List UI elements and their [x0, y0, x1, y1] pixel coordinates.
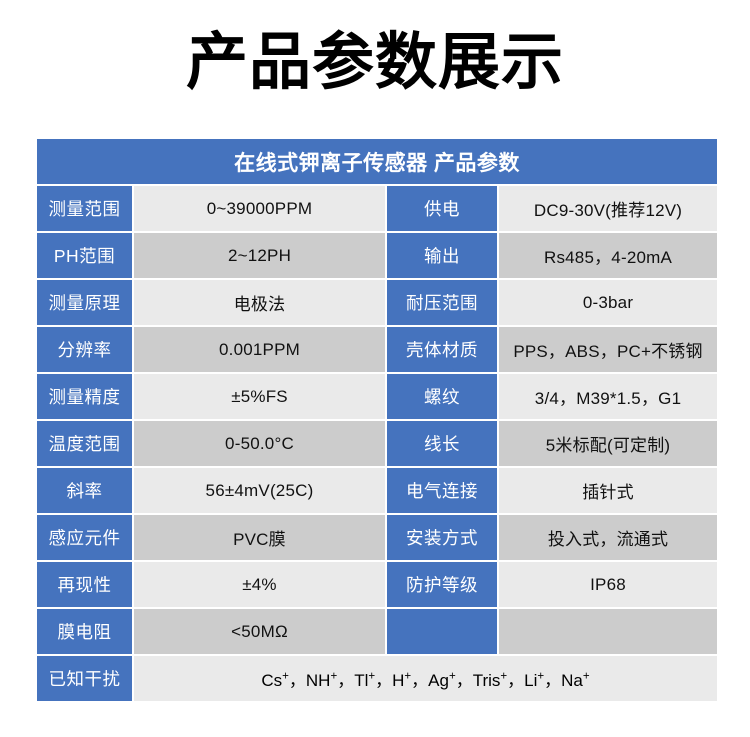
table-row: 测量原理电极法耐压范围0-3bar: [37, 280, 717, 325]
spec-value-left: 2~12PH: [134, 233, 385, 278]
ion-charge-superscript: +: [537, 670, 544, 682]
table-row: 斜率56±4mV(25C)电气连接插针式: [37, 468, 717, 513]
spec-value-left: 电极法: [134, 280, 385, 325]
spec-table-body: 在线式钾离子传感器 产品参数 测量范围0~39000PPM供电DC9-30V(推…: [37, 139, 717, 701]
ion-charge-superscript: +: [282, 670, 289, 682]
spec-value-right: 3/4，M39*1.5，G1: [499, 374, 717, 419]
table-row: PH范围2~12PH输出Rs485，4-20mA: [37, 233, 717, 278]
spec-label-left: 测量原理: [37, 280, 132, 325]
ion-charge-superscript: +: [449, 670, 456, 682]
ion-charge-superscript: +: [583, 670, 590, 682]
table-row: 膜电阻<50MΩ: [37, 609, 717, 654]
spec-value-left: <50MΩ: [134, 609, 385, 654]
product-spec-table: 在线式钾离子传感器 产品参数 测量范围0~39000PPM供电DC9-30V(推…: [35, 137, 719, 703]
spec-label-right: 供电: [387, 186, 497, 231]
spec-label-left: PH范围: [37, 233, 132, 278]
table-row: 再现性±4%防护等级IP68: [37, 562, 717, 607]
table-title: 在线式钾离子传感器 产品参数: [37, 139, 717, 184]
spec-value-left: ±4%: [134, 562, 385, 607]
spec-value-right: DC9-30V(推荐12V): [499, 186, 717, 231]
spec-label-left: 测量范围: [37, 186, 132, 231]
spec-label-right: 电气连接: [387, 468, 497, 513]
table-header-row: 在线式钾离子传感器 产品参数: [37, 139, 717, 184]
spec-value-right: 5米标配(可定制): [499, 421, 717, 466]
spec-label-left: 感应元件: [37, 515, 132, 560]
ion-charge-superscript: +: [330, 670, 337, 682]
page-title: 产品参数展示: [186, 26, 564, 98]
spec-value-left: 0~39000PPM: [134, 186, 385, 231]
ion-charge-superscript: +: [500, 670, 507, 682]
spec-label-left: 分辨率: [37, 327, 132, 372]
spec-label-right: 壳体材质: [387, 327, 497, 372]
spec-value-right: PPS，ABS，PC+不锈钢: [499, 327, 717, 372]
spec-value-right: 插针式: [499, 468, 717, 513]
spec-value-right: [499, 609, 717, 654]
spec-value-left: 56±4mV(25C): [134, 468, 385, 513]
spec-value-left: 0.001PPM: [134, 327, 385, 372]
spec-label-left: 斜率: [37, 468, 132, 513]
spec-label-right: 安装方式: [387, 515, 497, 560]
table-row-interference: 已知干扰Cs+，NH+，Tl+，H+，Ag+，Tris+，Li+，Na+: [37, 656, 717, 701]
spec-label-interference: 已知干扰: [37, 656, 132, 701]
page-title-container: 产品参数展示: [0, 26, 750, 98]
table-row: 测量范围0~39000PPM供电DC9-30V(推荐12V): [37, 186, 717, 231]
table-row: 测量精度±5%FS螺纹3/4，M39*1.5，G1: [37, 374, 717, 419]
ion-charge-superscript: +: [404, 670, 411, 682]
ion-charge-superscript: +: [368, 670, 375, 682]
spec-label-left: 再现性: [37, 562, 132, 607]
spec-value-left: ±5%FS: [134, 374, 385, 419]
spec-value-left: PVC膜: [134, 515, 385, 560]
spec-label-left: 膜电阻: [37, 609, 132, 654]
spec-value-right: Rs485，4-20mA: [499, 233, 717, 278]
spec-label-left: 测量精度: [37, 374, 132, 419]
spec-value-right: 0-3bar: [499, 280, 717, 325]
spec-label-right-empty: [387, 609, 497, 654]
spec-label-right: 防护等级: [387, 562, 497, 607]
spec-label-right: 线长: [387, 421, 497, 466]
table-row: 温度范围0-50.0°C线长5米标配(可定制): [37, 421, 717, 466]
spec-value-interference: Cs+，NH+，Tl+，H+，Ag+，Tris+，Li+，Na+: [134, 656, 717, 701]
spec-label-right: 输出: [387, 233, 497, 278]
product-spec-page: 产品参数展示 在线式钾离子传感器 产品参数 测量范围0~39000PPM供电DC…: [0, 0, 750, 737]
table-row: 感应元件PVC膜安装方式投入式，流通式: [37, 515, 717, 560]
spec-value-right: 投入式，流通式: [499, 515, 717, 560]
spec-value-right: IP68: [499, 562, 717, 607]
spec-label-left: 温度范围: [37, 421, 132, 466]
spec-label-right: 耐压范围: [387, 280, 497, 325]
spec-value-left: 0-50.0°C: [134, 421, 385, 466]
spec-label-right: 螺纹: [387, 374, 497, 419]
table-row: 分辨率0.001PPM壳体材质PPS，ABS，PC+不锈钢: [37, 327, 717, 372]
